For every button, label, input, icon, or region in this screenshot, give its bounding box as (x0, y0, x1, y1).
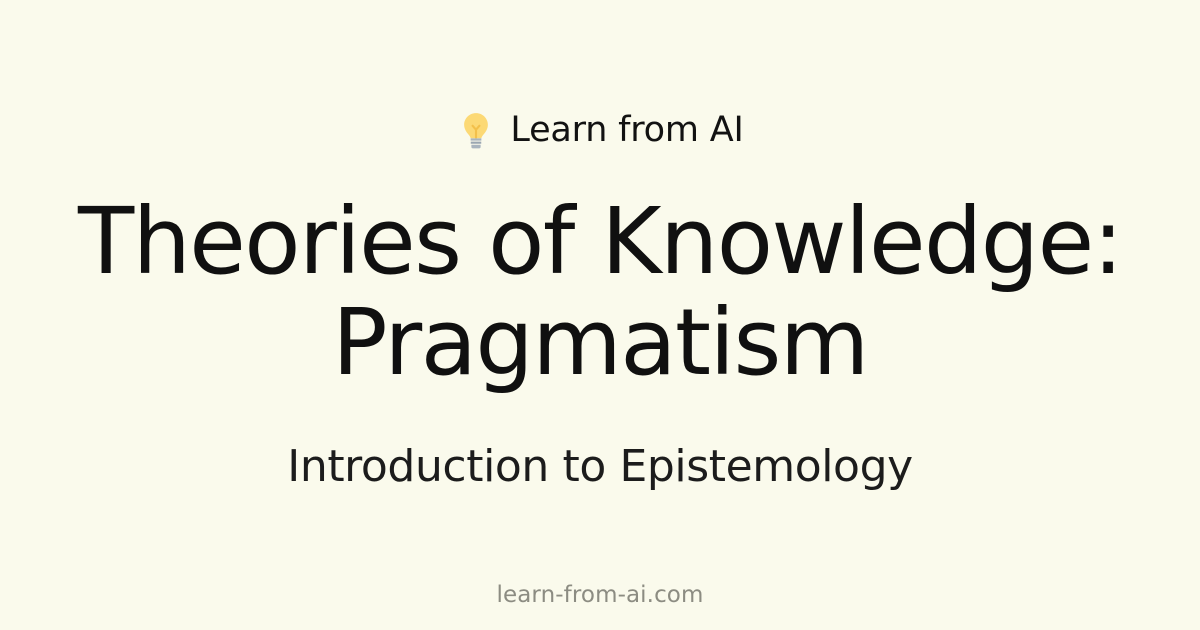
page-title: Theories of Knowledge: Pragmatism (60, 192, 1140, 393)
social-share-card: Learn from AI Theories of Knowledge: Pra… (0, 0, 1200, 630)
title-line-2: Pragmatism (332, 289, 868, 396)
footer: learn-from-ai.com (0, 582, 1200, 608)
eyebrow-label: Learn from AI (510, 113, 743, 148)
title-line-1: Theories of Knowledge: (78, 188, 1122, 295)
page-subtitle: Introduction to Epistemology (287, 441, 913, 494)
footer-site-url: learn-from-ai.com (496, 582, 703, 608)
lightbulb-icon (456, 110, 496, 150)
brand-eyebrow: Learn from AI (456, 110, 743, 150)
